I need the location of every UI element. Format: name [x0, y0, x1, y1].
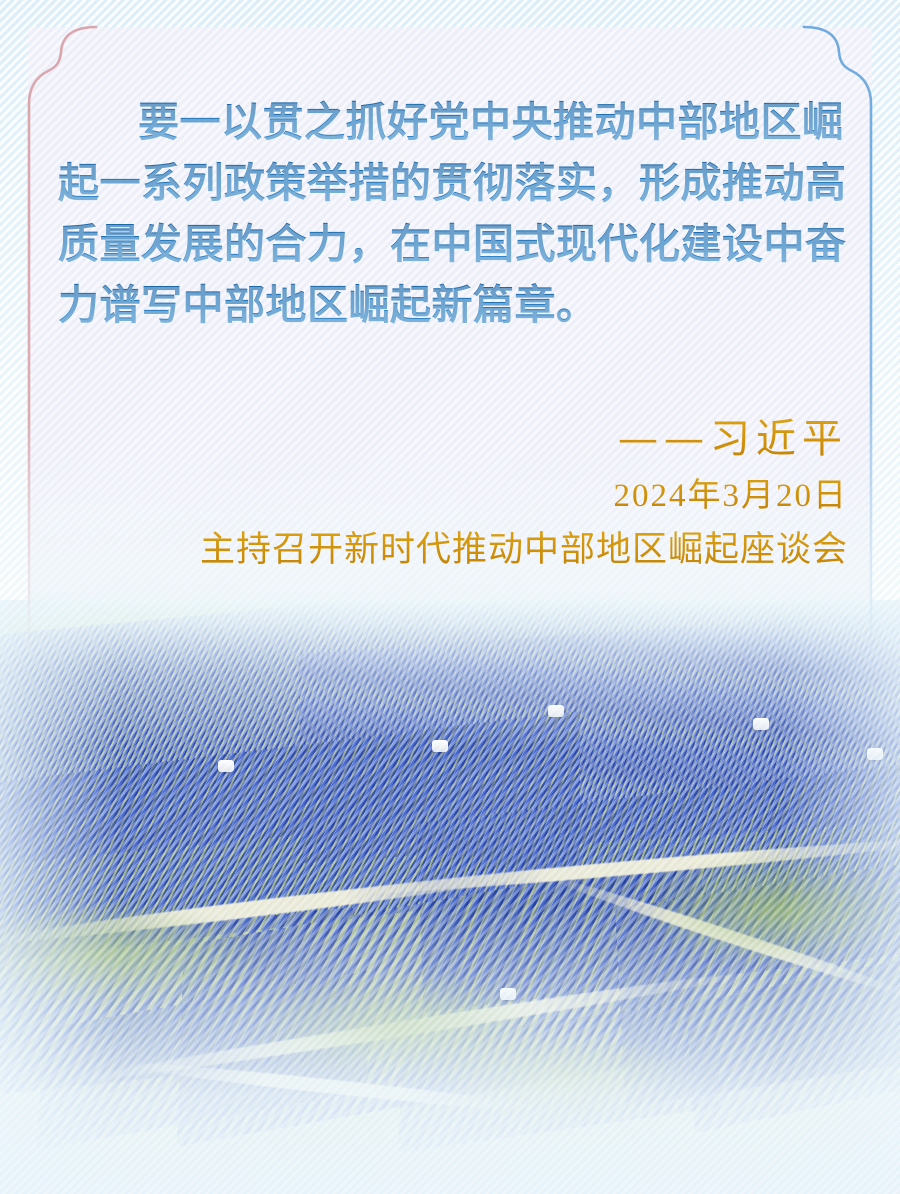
- attribution-block: ——习近平 2024年3月20日 主持召开新时代推动中部地区崛起座谈会: [58, 408, 848, 578]
- solar-farm-photo: [0, 600, 900, 1194]
- quote-line-1: 要一以贯之抓好党中央推动中部地区崛: [58, 92, 854, 153]
- quote-line-3: 质量发展的合力，在中国式现代化建设中奋: [58, 214, 854, 275]
- inverter-station: [218, 760, 234, 772]
- quote-line-4: 力谱写中部地区崛起新篇章。: [58, 275, 854, 336]
- speech-date: 2024年3月20日: [58, 470, 848, 522]
- event-title: 主持召开新时代推动中部地区崛起座谈会: [58, 522, 848, 578]
- horizon-haze: [0, 600, 900, 750]
- speaker-name: ——习近平: [58, 408, 848, 470]
- quote-text-block: 要一以贯之抓好党中央推动中部地区崛 起一系列政策举措的贯彻落实，形成推动高 质量…: [58, 92, 854, 336]
- photo-content: [0, 600, 900, 1194]
- quote-poster: 要一以贯之抓好党中央推动中部地区崛 起一系列政策举措的贯彻落实，形成推动高 质量…: [0, 0, 900, 1194]
- quote-line-2: 起一系列政策举措的贯彻落实，形成推动高: [58, 153, 854, 214]
- bottom-fade: [0, 904, 900, 1194]
